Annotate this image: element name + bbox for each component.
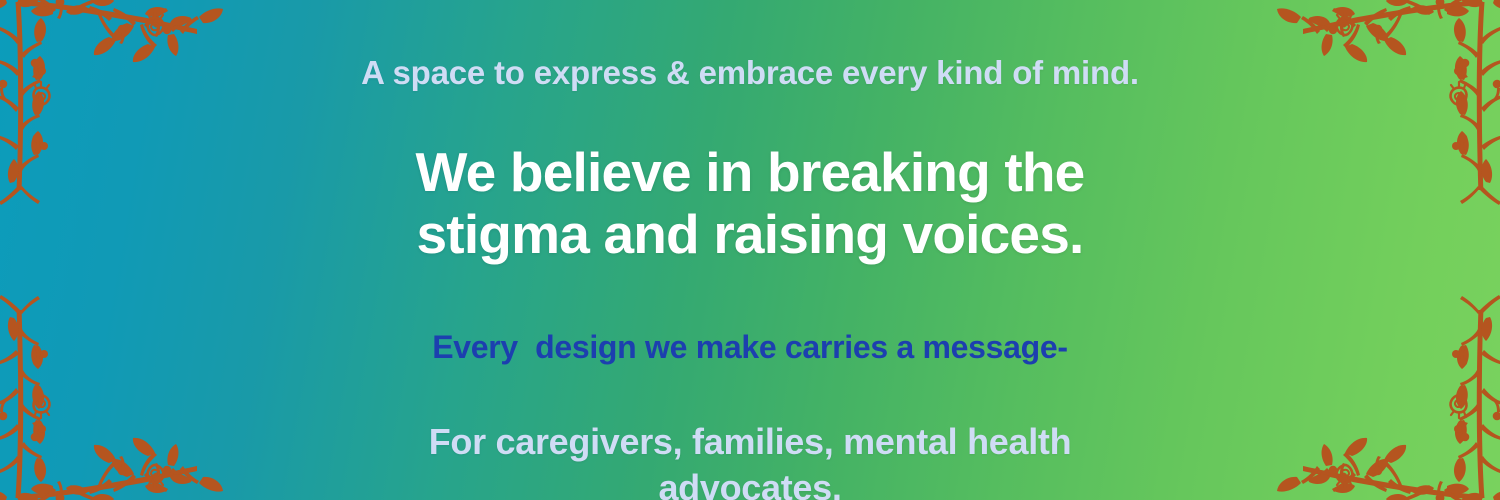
headline-line-2: stigma and raising voices. <box>416 203 1085 265</box>
mental-health-banner: A space to express & embrace every kind … <box>0 0 1500 500</box>
banner-message: Every design we make carries a message- <box>432 330 1068 365</box>
banner-text-stack: A space to express & embrace every kind … <box>0 0 1500 500</box>
audience-line-1: For caregivers, families, mental health <box>429 419 1072 465</box>
banner-headline: We believe in breaking the stigma and ra… <box>416 141 1085 265</box>
banner-tagline: A space to express & embrace every kind … <box>361 55 1139 92</box>
audience-line-2: advocates, <box>429 465 1072 500</box>
banner-audience: For caregivers, families, mental health … <box>429 419 1072 500</box>
headline-line-1: We believe in breaking the <box>416 141 1085 203</box>
